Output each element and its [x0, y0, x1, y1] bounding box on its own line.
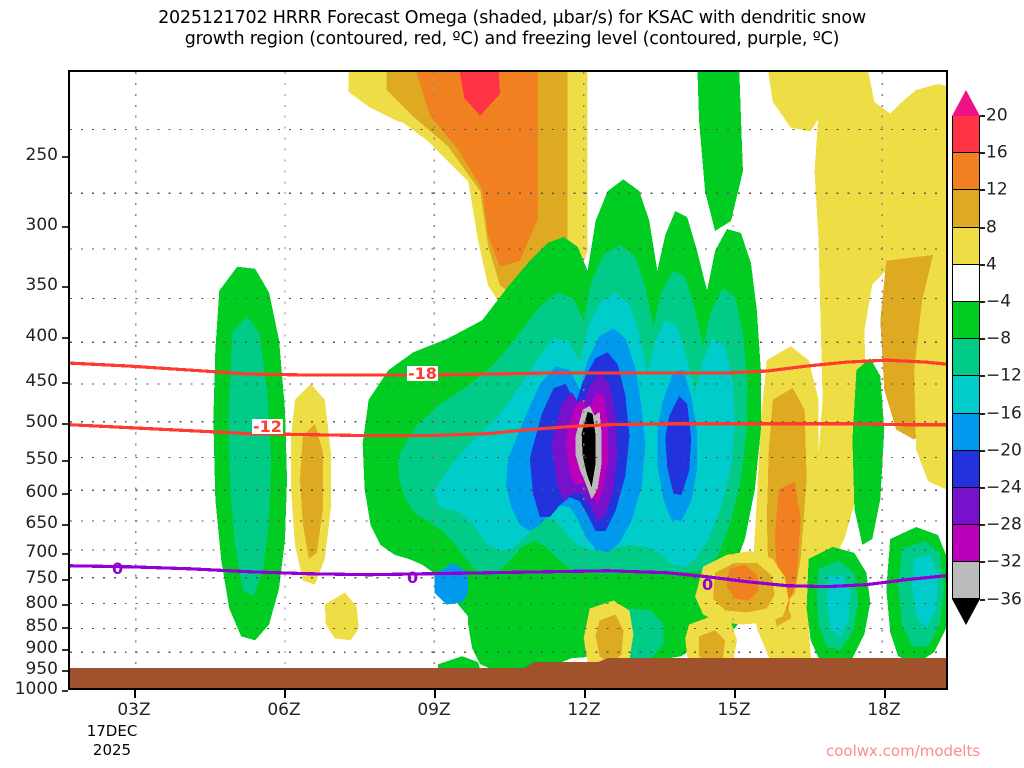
y-axis-tick-label: 750: [0, 570, 58, 587]
y-axis-tick: [62, 579, 68, 581]
y-axis-tick: [62, 604, 68, 606]
colorbar-tick-label: −12: [986, 368, 1022, 385]
colorbar-segment: [952, 302, 980, 339]
colorbar-tick: [980, 115, 985, 117]
y-axis-tick-label: 300: [0, 217, 58, 234]
y-axis-tick-label: 400: [0, 328, 58, 345]
dsgr-label-18: -18: [407, 366, 438, 381]
chart-title-line-1: 2025121702 HRRR Forecast Omega (shaded, …: [0, 8, 1024, 29]
credit-link[interactable]: coolwx.com/modelts: [826, 742, 980, 760]
colorbar-tick-label: −20: [986, 442, 1022, 459]
y-axis-tick-label: 350: [0, 277, 58, 294]
colorbar-segment: [952, 153, 980, 190]
colorbar-tick: [980, 487, 985, 489]
colorbar-segment: [952, 265, 980, 302]
y-axis-tick-label: 550: [0, 451, 58, 468]
y-axis-tick-label: 450: [0, 373, 58, 390]
colorbar-tick: [980, 338, 985, 340]
y-axis-tick: [62, 226, 68, 228]
colorbar-tick: [980, 561, 985, 563]
date-year: 2025: [72, 741, 152, 760]
y-axis-tick: [62, 553, 68, 555]
colorbar-segment: [952, 562, 980, 599]
colorbar: 20161284−4−8−12−16−20−24−28−32−36: [952, 90, 980, 625]
x-axis-tick: [884, 690, 886, 698]
y-axis-tick-label: 1000: [0, 681, 58, 698]
colorbar-segment: [952, 451, 980, 488]
y-axis-tick-label: 250: [0, 147, 58, 164]
y-axis-tick-label: 850: [0, 618, 58, 635]
y-axis-tick: [62, 524, 68, 526]
x-axis-tick: [284, 690, 286, 698]
colorbar-tick-label: 12: [986, 182, 1008, 199]
colorbar-tick-label: −24: [986, 480, 1022, 497]
colorbar-tick: [980, 413, 985, 415]
chart-title-line-2: growth region (contoured, red, ºC) and f…: [0, 29, 1024, 50]
x-axis-tick-label: 12Z: [544, 700, 624, 720]
freezing-label-0-right: 0: [702, 577, 713, 592]
plot-area: -18 -12 0 0 0 Forecast Time (UTC): [68, 70, 948, 690]
colorbar-tick-label: 16: [986, 145, 1008, 162]
colorbar-tick: [980, 189, 985, 191]
colorbar-segment: [952, 376, 980, 413]
chart-title: 2025121702 HRRR Forecast Omega (shaded, …: [0, 8, 1024, 50]
date-month-day: 17DEC: [72, 722, 152, 741]
x-axis-tick-label: 09Z: [394, 700, 474, 720]
y-axis-tick: [62, 493, 68, 495]
y-axis-tick: [62, 286, 68, 288]
colorbar-tick: [980, 524, 985, 526]
y-axis-tick: [62, 337, 68, 339]
x-axis-tick: [434, 690, 436, 698]
y-axis-tick: [62, 649, 68, 651]
y-axis-tick-label: 500: [0, 414, 58, 431]
colorbar-tick: [980, 152, 985, 154]
x-axis-tick: [134, 690, 136, 698]
colorbar-tick: [980, 599, 985, 601]
y-axis-tick: [62, 670, 68, 672]
colorbar-tick: [980, 227, 985, 229]
y-axis-tick: [62, 627, 68, 629]
colorbar-tick-label: −36: [986, 591, 1022, 608]
y-axis-tick-label: 650: [0, 515, 58, 532]
colorbar-tick: [980, 301, 985, 303]
colorbar-tick: [980, 375, 985, 377]
x-axis-tick-label: 06Z: [244, 700, 324, 720]
y-axis-tick: [62, 460, 68, 462]
colorbar-tick-label: 20: [986, 108, 1008, 125]
freezing-label-0-mid: 0: [407, 570, 418, 585]
colorbar-tick: [980, 264, 985, 266]
colorbar-tick-label: 8: [986, 219, 997, 236]
x-axis-tick: [734, 690, 736, 698]
colorbar-tick-label: −8: [986, 331, 1011, 348]
y-axis-tick-label: 600: [0, 484, 58, 501]
x-axis-date-stack: 17DEC 2025: [72, 722, 152, 760]
colorbar-tick-label: −4: [986, 294, 1011, 311]
x-axis-tick-label: 15Z: [694, 700, 774, 720]
y-axis-tick: [62, 690, 68, 692]
y-axis-tick-label: 900: [0, 640, 58, 657]
y-axis-tick-label: 700: [0, 544, 58, 561]
omega-shaded-field: [70, 72, 946, 688]
colorbar-bottom-arrow: [952, 599, 980, 625]
colorbar-top-arrow: [952, 90, 980, 116]
y-axis-tick: [62, 156, 68, 158]
colorbar-segment: [952, 339, 980, 376]
x-axis-tick-label: 03Z: [94, 700, 174, 720]
colorbar-tick-label: −32: [986, 554, 1022, 571]
y-axis-tick: [62, 382, 68, 384]
y-axis-tick: [62, 423, 68, 425]
colorbar-segment: [952, 488, 980, 525]
colorbar-segment: [952, 525, 980, 562]
y-axis-tick-label: 800: [0, 595, 58, 612]
colorbar-segment: [952, 414, 980, 451]
dsgr-label-12: -12: [252, 419, 283, 434]
colorbar-segment: [952, 190, 980, 227]
colorbar-tick-label: 4: [986, 256, 997, 273]
y-axis-tick-label: 950: [0, 661, 58, 678]
colorbar-tick-label: −28: [986, 517, 1022, 534]
colorbar-segment: [952, 116, 980, 153]
colorbar-segment: [952, 228, 980, 265]
x-axis-tick: [584, 690, 586, 698]
colorbar-tick-label: −16: [986, 405, 1022, 422]
x-axis-tick-label: 18Z: [844, 700, 924, 720]
freezing-label-0-left: 0: [112, 561, 123, 576]
colorbar-tick: [980, 450, 985, 452]
